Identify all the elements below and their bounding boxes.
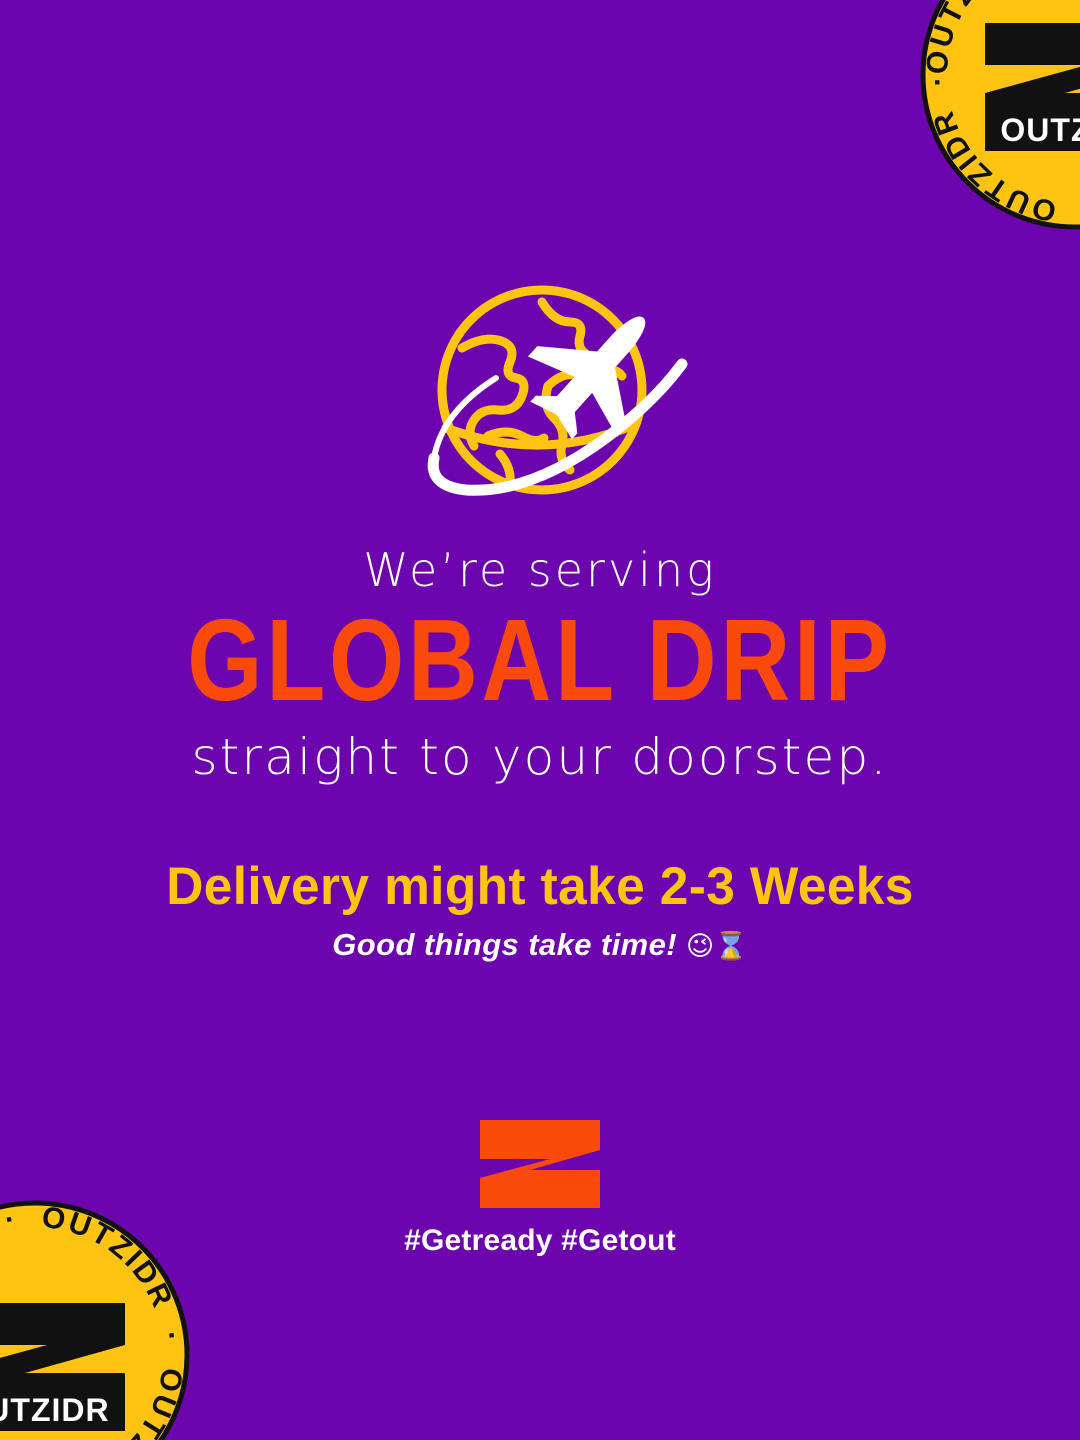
outzidr-z-logo (478, 1118, 602, 1210)
delivery-estimate-line: Delivery might take 2-3 Weeks (16, 859, 1064, 915)
wink-hourglass-emoji: 😉⌛ (686, 931, 748, 962)
good-things-text: Good things take time! (332, 927, 677, 962)
outzidr-badge-top-right: OUTZIDR · OUTZIDR · OUTZIDR · OUTZIDR · … (915, 0, 1080, 235)
svg-text:OUTZIDR: OUTZIDR (1000, 112, 1080, 148)
serving-line: We’re serving (0, 545, 1080, 597)
badge-wordmark: OUTZIDR (0, 1391, 125, 1431)
globe-with-airplane-icon (0, 268, 1080, 518)
svg-text:OUTZIDR: OUTZIDR (0, 1392, 110, 1428)
poster-canvas: OUTZIDR · OUTZIDR · OUTZIDR · OUTZIDR · … (0, 0, 1080, 1440)
copy-block: We’re serving GLOBAL DRIP straight to yo… (0, 545, 1080, 962)
headline-global-drip: GLOBAL DRIP (38, 602, 1042, 718)
outzidr-badge-bottom-left: OUTZIDR · OUTZIDR · OUTZIDR · OUTZIDR · … (0, 1195, 195, 1440)
badge-wordmark: OUTZIDR (985, 111, 1080, 151)
doorstep-line: straight to your doorstep. (0, 729, 1080, 785)
good-things-line: Good things take time! 😉⌛ (0, 928, 1080, 962)
